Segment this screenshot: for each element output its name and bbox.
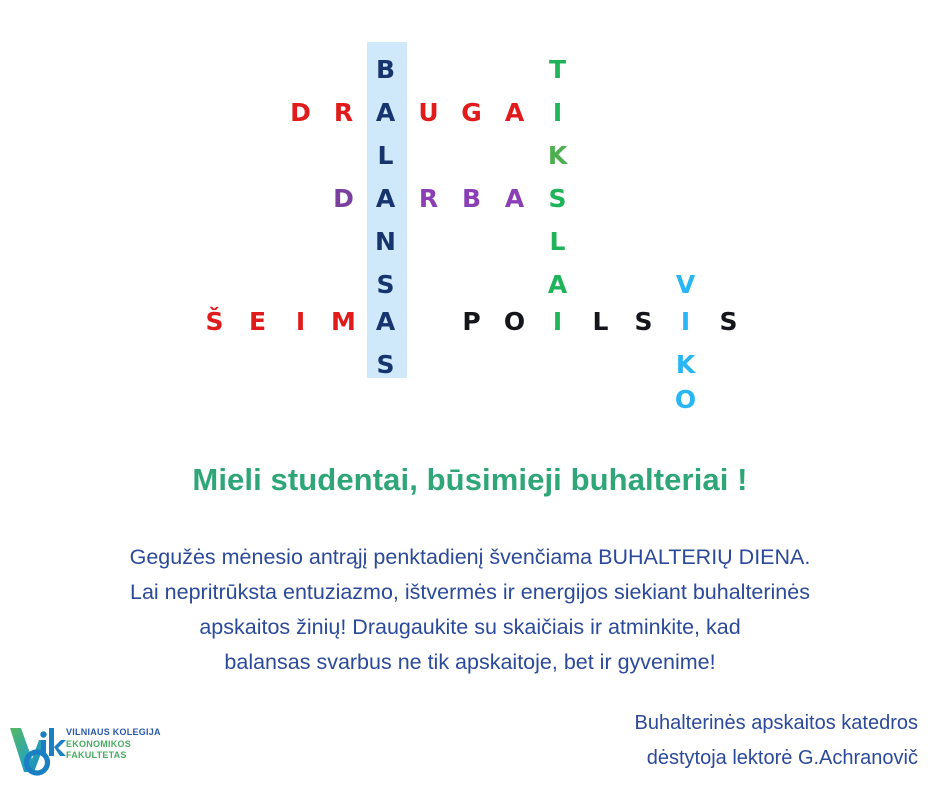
crossword-letter: S (364, 270, 407, 300)
crossword-letter: L (579, 307, 622, 337)
crossword-letter: Š (193, 307, 236, 337)
body-line: balansas svarbus ne tik apskaitoje, bet … (40, 645, 900, 680)
crossword-letter: M (322, 307, 365, 337)
crossword-letter: S (364, 350, 407, 380)
crossword-letter: R (407, 184, 450, 214)
logo-line-faculty-1: EKONOMIKOS (66, 739, 161, 751)
crossword-letter: U (407, 98, 450, 128)
crossword-letter: S (707, 307, 750, 337)
viko-logo-mark-icon (8, 720, 66, 776)
crossword-letter: I (279, 307, 322, 337)
crossword-letter: O (493, 307, 536, 337)
viko-logo: VILNIAUS KOLEGIJA EKONOMIKOS FAKULTETAS (8, 716, 188, 782)
crossword-letter: O (664, 385, 707, 415)
crossword-letter: N (364, 227, 407, 257)
crossword-letter: I (664, 307, 707, 337)
crossword-letter: V (664, 270, 707, 300)
poster-canvas: BDRAUGATILKDARBASNLSAVŠEIMAPOILSISSKO Mi… (0, 0, 940, 788)
logo-line-university: VILNIAUS KOLEGIJA (66, 727, 161, 739)
crossword-letter: K (536, 141, 579, 171)
crossword-letter: I (536, 307, 579, 337)
signature-line: dėstytoja lektorė G.Achranovič (635, 741, 919, 776)
body-line: Gegužės mėnesio antrąjį penktadienį šven… (40, 540, 900, 575)
crossword-letter: A (493, 98, 536, 128)
body-paragraph: Gegužės mėnesio antrąjį penktadienį šven… (40, 540, 900, 680)
crossword-letter: A (364, 184, 407, 214)
page-title: Mieli studentai, būsimieji buhalteriai ! (0, 462, 940, 498)
crossword-letter: G (450, 98, 493, 128)
crossword-letter: L (536, 227, 579, 257)
crossword-letter: K (664, 350, 707, 380)
body-line: apskaitos žinių! Draugaukite su skaičiai… (40, 610, 900, 645)
crossword-letter: A (536, 270, 579, 300)
logo-line-faculty-2: FAKULTETAS (66, 750, 161, 762)
crossword-letter: B (364, 55, 407, 85)
crossword-letter: A (493, 184, 536, 214)
crossword-letter: S (622, 307, 665, 337)
crossword-letter: I (536, 98, 579, 128)
crossword-letter: L (364, 141, 407, 171)
crossword-letter: R (322, 98, 365, 128)
logo-wordmark: VILNIAUS KOLEGIJA EKONOMIKOS FAKULTETAS (66, 727, 161, 762)
crossword-letter: E (236, 307, 279, 337)
crossword-letter: S (536, 184, 579, 214)
signature-line: Buhalterinės apskaitos katedros (635, 706, 919, 741)
crossword-letter: A (364, 307, 407, 337)
crossword-graphic: BDRAUGATILKDARBASNLSAVŠEIMAPOILSISSKO (0, 0, 940, 430)
crossword-letter: P (450, 307, 493, 337)
crossword-letter: D (322, 184, 365, 214)
crossword-letter: D (279, 98, 322, 128)
crossword-letter: A (364, 98, 407, 128)
signature-block: Buhalterinės apskaitos katedros dėstytoj… (635, 706, 919, 776)
crossword-letter: B (450, 184, 493, 214)
crossword-letter: T (536, 55, 579, 85)
body-line: Lai nepritrūksta entuziazmo, ištvermės i… (40, 575, 900, 610)
